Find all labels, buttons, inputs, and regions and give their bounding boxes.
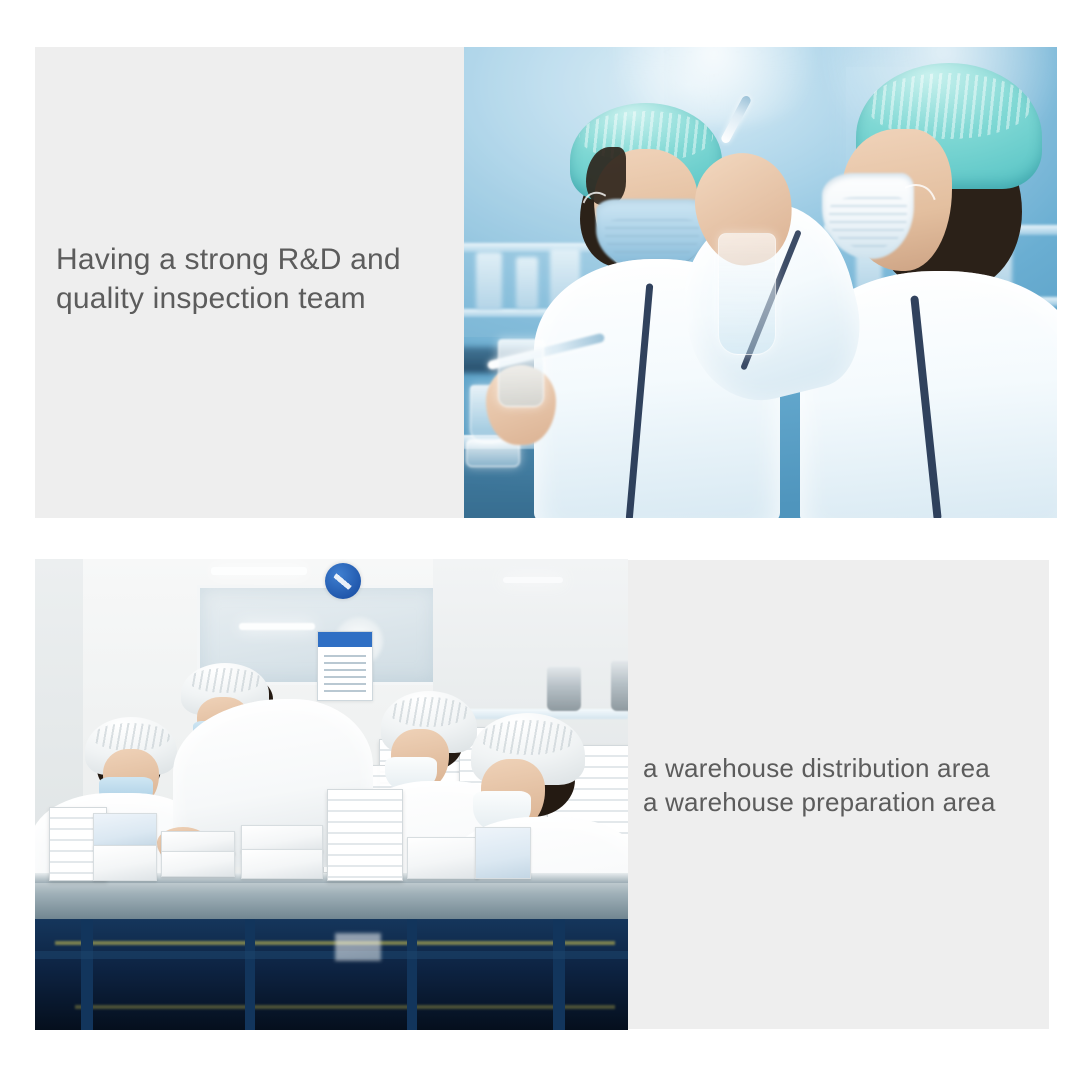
top-caption-line-2: quality inspection team	[56, 282, 366, 315]
table-leg-2	[245, 919, 255, 1030]
lab-rack-2	[516, 257, 538, 309]
blue-safety-sign-icon	[325, 563, 361, 599]
table-crossbar	[35, 951, 628, 959]
steel-pot-1	[547, 667, 581, 711]
table-box-4	[161, 851, 235, 877]
table-box-stack-2	[327, 789, 403, 881]
window-inner-light	[239, 623, 315, 630]
page-root: Having a strong R&D andquality inspectio…	[0, 0, 1080, 1080]
table-leg-4	[553, 919, 565, 1030]
table-box-2	[93, 845, 157, 881]
warehouse-packing-photo	[35, 559, 628, 1030]
sample-vial	[718, 233, 776, 355]
sample-bottle	[498, 339, 544, 407]
laboratory-quality-inspection-photo	[464, 47, 1057, 518]
steel-pot-2	[611, 661, 628, 711]
floor-safety-line-2	[75, 1005, 615, 1009]
bottom-caption-line-1: a warehouse distribution area	[643, 753, 990, 783]
lab-technician-right	[794, 57, 1057, 518]
table-leg-1	[81, 919, 93, 1030]
table-box-6	[241, 849, 323, 879]
warehouse-floor	[35, 919, 628, 1030]
steel-work-table	[35, 877, 628, 921]
table-leg-3	[407, 919, 417, 1030]
ceiling-light-3	[503, 577, 563, 583]
under-table-box	[335, 933, 381, 961]
bottom-caption: a warehouse distribution areaa warehouse…	[643, 752, 1043, 820]
table-box-8	[475, 827, 531, 879]
lab-rack-1	[476, 252, 502, 310]
bottom-caption-line-2: a warehouse preparation area	[643, 787, 996, 817]
table-box-1	[93, 813, 157, 849]
top-caption-line-1: Having a strong R&D and	[56, 243, 401, 276]
table-box-7	[407, 837, 479, 879]
ceiling-light-1	[211, 567, 307, 575]
top-caption: Having a strong R&D andquality inspectio…	[56, 240, 456, 318]
